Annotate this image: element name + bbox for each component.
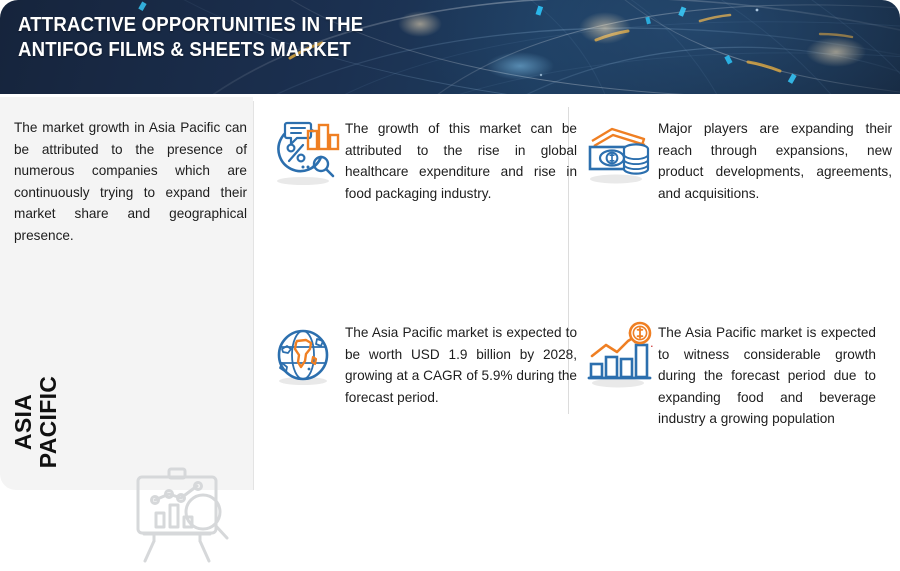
page-title: ATTRACTIVE OPPORTUNITIES IN THE ANTIFOG … bbox=[18, 13, 595, 63]
globe-africa-icon bbox=[269, 319, 345, 395]
cash-coins-money-icon bbox=[582, 115, 658, 191]
info-cell-text: The growth of this market can be attribu… bbox=[345, 118, 577, 204]
info-cell-text: The Asia Pacific market is expected to w… bbox=[658, 322, 876, 430]
left-region-panel: The market growth in Asia Pacific can be… bbox=[0, 97, 253, 490]
bar-chart-growth-dollar-icon bbox=[582, 319, 658, 395]
left-panel-paragraph: The market growth in Asia Pacific can be… bbox=[14, 117, 247, 247]
content-area: The market growth in Asia Pacific can be… bbox=[0, 97, 900, 490]
analytics-percent-barchart-icon bbox=[269, 115, 345, 191]
column-divider-left bbox=[253, 101, 254, 490]
info-cell-text: Major players are expanding their reach … bbox=[658, 118, 892, 204]
info-cell-text: The Asia Pacific market is expected to b… bbox=[345, 322, 577, 408]
region-label-asia-pacific: ASIA PACIFIC bbox=[11, 362, 61, 482]
header-banner: ATTRACTIVE OPPORTUNITIES IN THE ANTIFOG … bbox=[0, 0, 900, 94]
presentation-board-chart-magnifier-icon bbox=[124, 459, 236, 571]
